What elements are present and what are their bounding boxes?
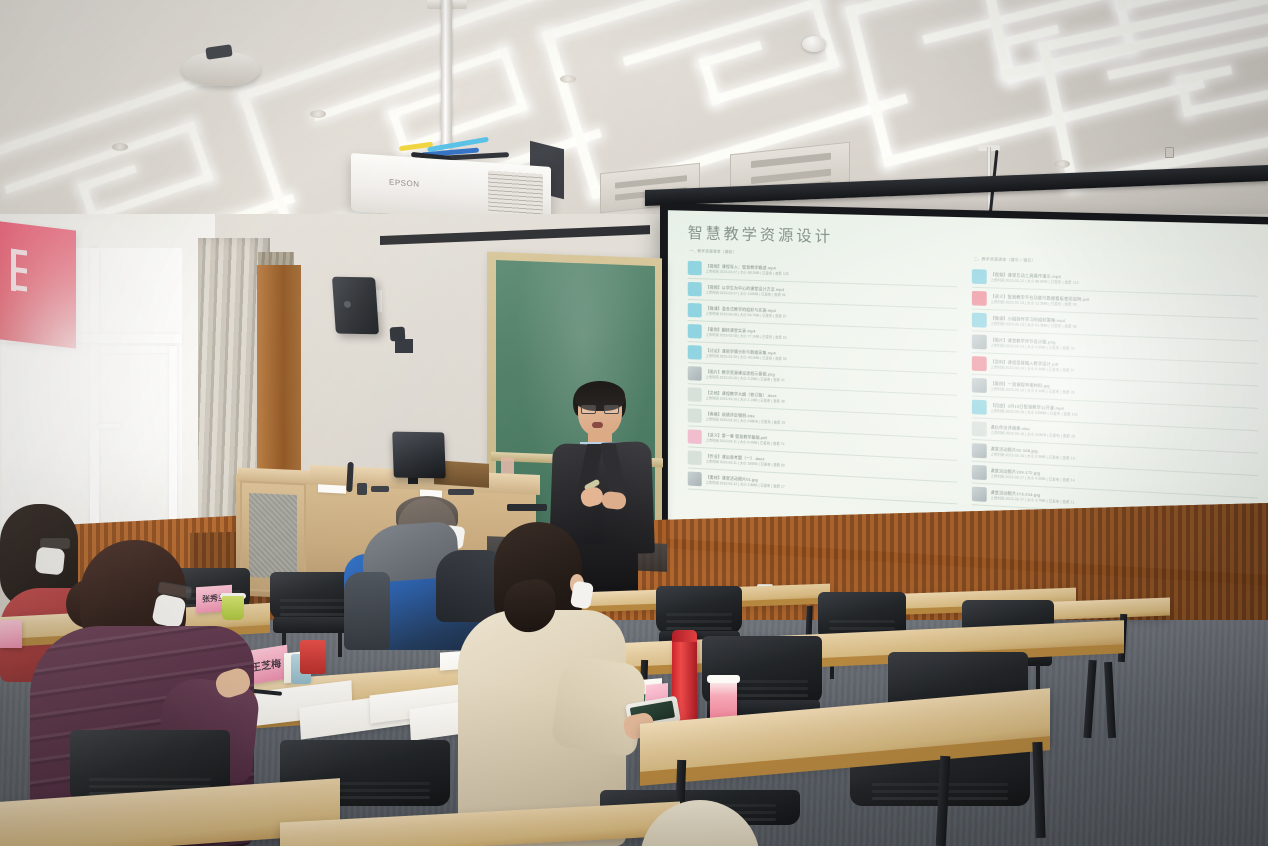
file-type-img-icon — [971, 487, 986, 502]
console-device — [448, 489, 474, 495]
file-type-img-icon — [688, 366, 702, 381]
file-type-vid-icon — [971, 400, 986, 415]
window-sash-right — [169, 346, 177, 536]
console-paper — [318, 484, 346, 493]
file-type-img-icon — [971, 443, 986, 458]
chair-back — [656, 586, 742, 634]
file-type-pdf-icon — [971, 356, 986, 371]
banner-glyph-icon — [11, 249, 27, 293]
slide-file-text: 【视频】课堂互动工具操作演示.mp4上传时间 2023-03-12 | 大小 8… — [990, 272, 1257, 291]
wall-speaker — [332, 277, 379, 335]
name-tent-card — [0, 620, 22, 648]
cup-lid — [707, 675, 740, 683]
file-type-vid-icon — [688, 303, 702, 318]
file-type-img-icon — [688, 471, 702, 486]
file-type-img-icon — [971, 378, 986, 393]
presenter-glasses-icon — [581, 405, 619, 414]
file-type-doc-icon — [688, 387, 702, 402]
console-device — [507, 504, 547, 511]
file-type-doc-icon — [688, 408, 702, 423]
camera-bracket — [395, 339, 413, 353]
console-device — [371, 486, 389, 492]
red-banner — [0, 221, 76, 348]
sprinkler-head-icon — [1165, 147, 1174, 158]
slide-file-text: 【微课】小组协作学习的组织策略.mp4上传时间 2023-03-13 | 大小 … — [990, 315, 1257, 335]
downlight-icon — [1054, 160, 1070, 168]
slide-file-text: 【讲义】智慧教学平台功能与数据看板使用说明.pdf上传时间 2023-03-13… — [990, 293, 1257, 313]
window-mullion — [90, 248, 99, 538]
slide-file-text: 【微课】混合式教学的组织与实施.mp4上传时间 2023-03-08 | 大小 … — [706, 305, 957, 324]
presenter-mouth — [592, 422, 603, 428]
projector-brand-label: EPSON — [389, 178, 420, 189]
chair-leg — [1036, 664, 1040, 692]
file-type-vid-icon — [688, 324, 702, 339]
red-cup — [300, 640, 326, 674]
smoke-detector-icon — [182, 52, 260, 86]
slide-column-left: 一、教学资源清单（课前） 【视频】课程导入：智慧教学概述.mp4上传时间 202… — [688, 249, 957, 558]
file-type-vid-icon — [688, 282, 702, 297]
file-type-doc-icon — [971, 421, 986, 436]
file-type-pdf-icon — [971, 291, 986, 306]
file-type-doc-icon — [688, 450, 702, 465]
ceiling-speaker-icon — [802, 36, 826, 52]
window-sash-top — [98, 346, 176, 353]
file-type-pnk-icon — [688, 429, 702, 444]
file-type-vid-icon — [971, 269, 986, 284]
downlight-icon — [310, 110, 326, 118]
projector-mount-pole — [441, 0, 452, 150]
face-mask-icon — [570, 580, 594, 609]
file-type-img-icon — [971, 465, 986, 480]
projector-vent — [488, 171, 543, 217]
console-device — [357, 483, 367, 495]
downlight-icon — [560, 75, 576, 83]
file-type-vid-icon — [688, 345, 702, 360]
participant-arm — [344, 572, 390, 650]
slide-file-text: 【视频】课程导入：智慧教学概述.mp4上传时间 2023-03-07 | 大小 … — [706, 263, 957, 281]
presenter-hand-right — [601, 491, 627, 510]
file-type-img-icon — [971, 334, 986, 349]
wall-camera-icon — [390, 327, 406, 342]
slide-file-text: 【视频】以学生为中心的课堂设计方法.mp4上传时间 2023-03-07 | 大… — [706, 284, 957, 303]
file-type-vid-icon — [971, 313, 986, 328]
console-monitor[interactable] — [392, 432, 446, 479]
window-handle — [98, 424, 120, 428]
downlight-icon — [112, 143, 128, 151]
file-type-vid-icon — [688, 261, 702, 275]
classroom-photo: EPSON 智慧教学资源设计 一、教学资源清单（课前） 【视频】课程导入：智慧教… — [0, 0, 1268, 846]
